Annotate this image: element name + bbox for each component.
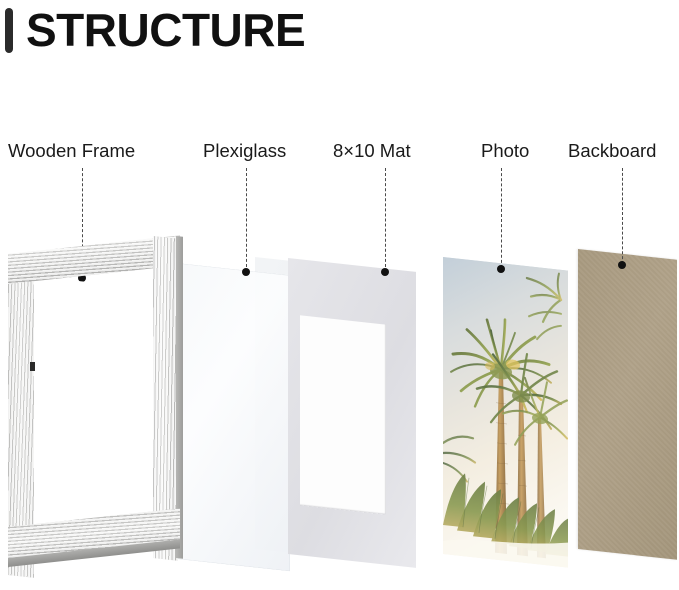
leader-line-plexiglass [246, 168, 247, 272]
exploded-diagram [0, 0, 679, 590]
label-photo: Photo [481, 140, 529, 162]
leader-line-photo [501, 168, 502, 268]
layer-wooden-frame [8, 232, 178, 580]
leader-dot-plexiglass [242, 268, 250, 276]
photo-artwork [443, 257, 568, 568]
leader-dot-photo [497, 265, 505, 273]
frame-clip [30, 362, 35, 371]
layer-backboard [578, 249, 677, 560]
leader-dot-backboard [618, 261, 626, 269]
frame-opening [32, 276, 154, 545]
mat-window-cutout [300, 315, 386, 514]
leader-line-backboard [622, 168, 623, 264]
label-plexiglass: Plexiglass [203, 140, 286, 162]
leader-line-mat [385, 168, 386, 272]
layer-plexiglass [168, 262, 290, 571]
leader-dot-mat [381, 268, 389, 276]
label-backboard: Backboard [568, 140, 656, 162]
layer-photo [443, 257, 568, 568]
layer-mat [288, 258, 416, 568]
label-wooden-frame: Wooden Frame [8, 140, 135, 162]
label-mat: 8×10 Mat [333, 140, 411, 162]
